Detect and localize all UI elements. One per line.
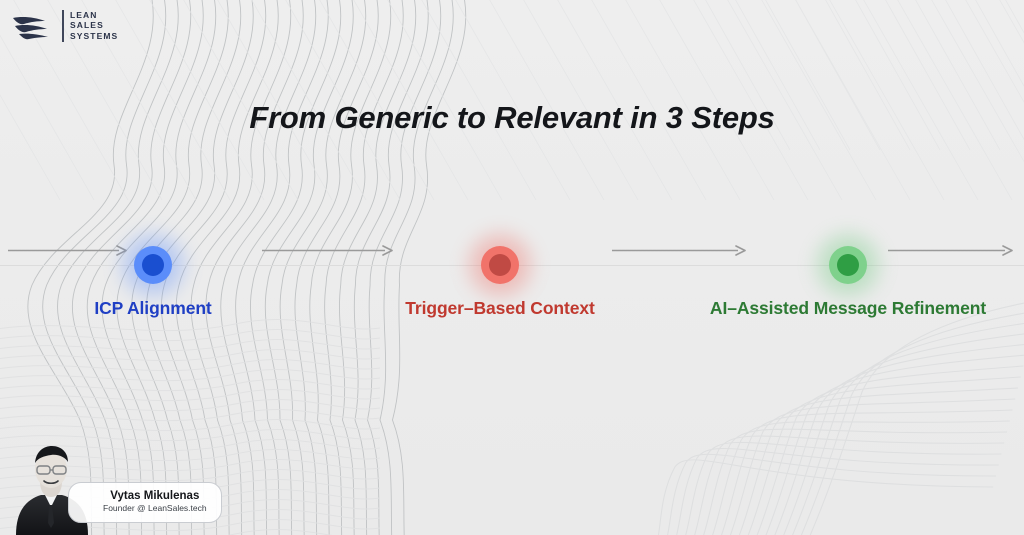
timeline-node-label-3: AI–Assisted Message Refinement <box>710 298 986 319</box>
node-ring <box>829 246 867 284</box>
node-core <box>837 254 859 276</box>
logo-divider <box>62 10 64 42</box>
node-ring <box>481 246 519 284</box>
brand-logo[interactable]: LEAN SALES SYSTEMS <box>12 9 118 43</box>
node-core <box>489 254 511 276</box>
presenter-role: Founder @ LeanSales.tech <box>103 503 207 514</box>
presenter-name: Vytas Mikulenas <box>103 490 207 503</box>
slide-canvas: LEAN SALES SYSTEMS From Generic to Relev… <box>0 0 1024 535</box>
timeline-node-3[interactable] <box>805 222 891 308</box>
logo-word-2: SALES <box>70 21 118 31</box>
timeline-node-1[interactable] <box>110 222 196 308</box>
timeline-node-2[interactable] <box>457 222 543 308</box>
arrow-1 <box>8 244 126 257</box>
arrow-4 <box>888 244 1012 257</box>
presenter-card: Vytas Mikulenas Founder @ LeanSales.tech <box>0 415 210 535</box>
logo-word-3: SYSTEMS <box>70 32 118 42</box>
arrow-3 <box>612 244 745 257</box>
presenter-info-pill: Vytas Mikulenas Founder @ LeanSales.tech <box>68 482 222 523</box>
node-core <box>142 254 164 276</box>
node-ring <box>134 246 172 284</box>
wing-swoosh-icon <box>12 9 56 43</box>
arrow-2 <box>262 244 392 257</box>
slide-title: From Generic to Relevant in 3 Steps <box>0 100 1024 136</box>
logo-wordmark: LEAN SALES SYSTEMS <box>70 11 118 42</box>
timeline-node-label-2: Trigger–Based Context <box>405 298 594 319</box>
logo-word-1: LEAN <box>70 11 118 21</box>
timeline-node-label-1: ICP Alignment <box>94 298 211 319</box>
